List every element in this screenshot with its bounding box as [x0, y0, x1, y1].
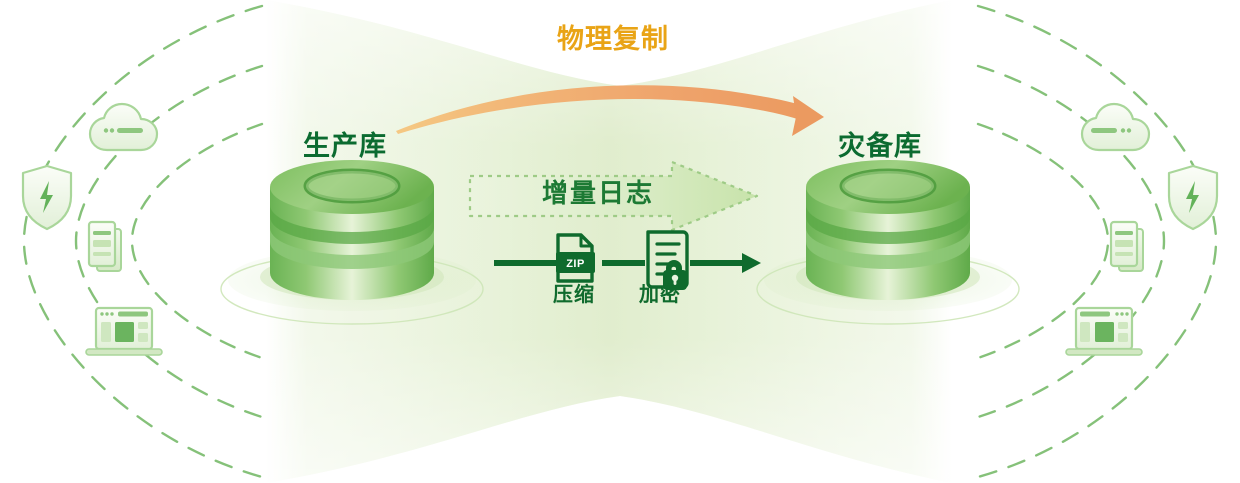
zip-file-icon: ZIP	[556, 235, 595, 281]
encrypt-step-label: 加密	[639, 285, 681, 305]
page-title: 物理复制	[557, 26, 669, 53]
document-lock-icon	[648, 232, 687, 290]
incremental-log-label: 增量日志	[542, 180, 654, 206]
target-database-label: 灾备库	[838, 133, 922, 160]
replication-diagram: ZIP 物理复制 生产库 灾备库 增量日志 压缩 加密	[0, 0, 1240, 483]
pipeline-flow: ZIP	[0, 0, 1240, 483]
pipeline-arrowhead	[742, 253, 761, 273]
zip-badge-text: ZIP	[566, 258, 585, 270]
source-database-label: 生产库	[303, 133, 387, 160]
compress-step-label: 压缩	[553, 285, 595, 305]
